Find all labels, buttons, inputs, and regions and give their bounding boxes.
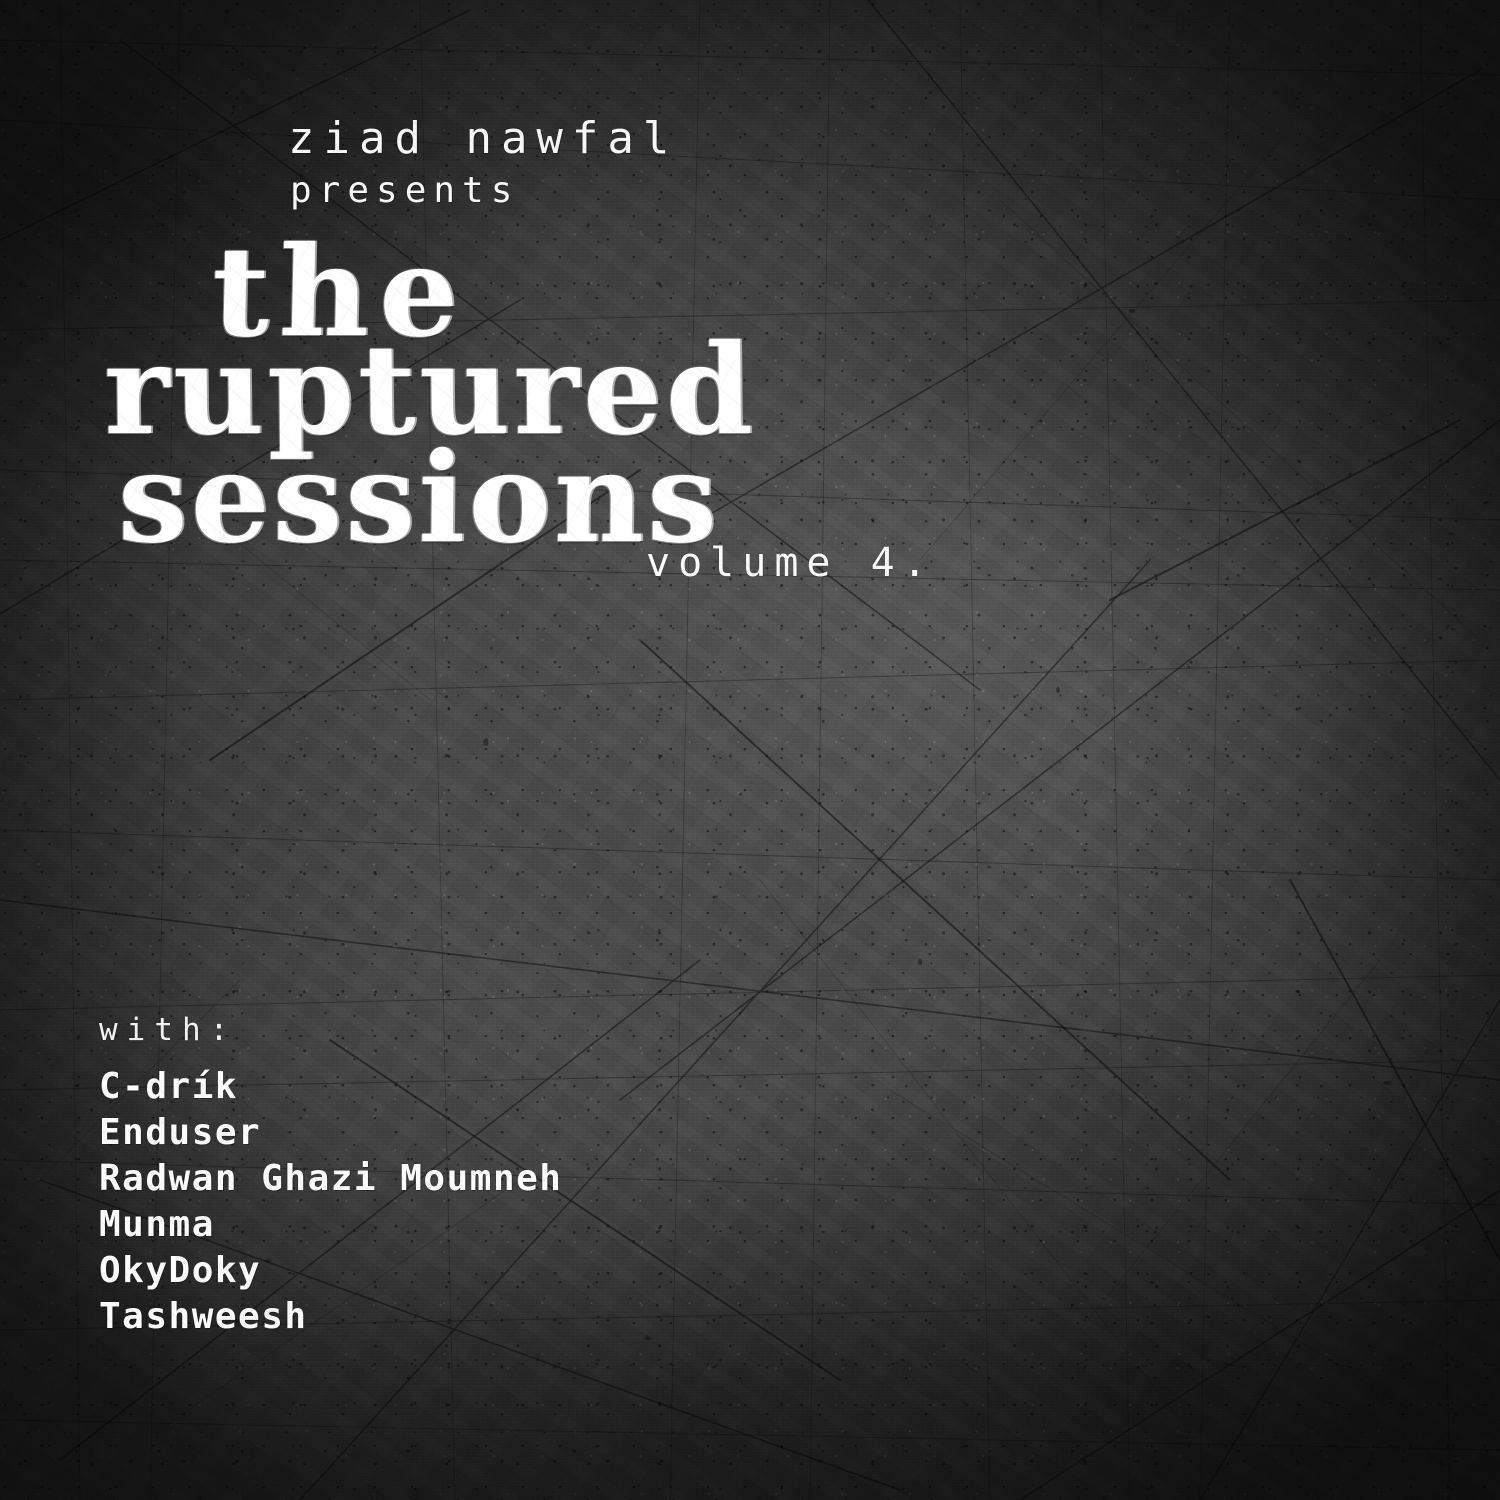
list-item: OkyDoky: [99, 1248, 562, 1294]
cover-text-layer: ziad nawfal presents the ruptured sessio…: [0, 0, 1500, 1500]
album-cover: ziad nawfal presents the ruptured sessio…: [0, 0, 1500, 1500]
artist-list-items: C-drík Enduser Radwan Ghazi Moumneh Munm…: [99, 1064, 562, 1340]
presents-label: presents: [290, 170, 519, 211]
list-item: Tashweesh: [99, 1294, 562, 1340]
list-item: Enduser: [99, 1110, 562, 1156]
album-title-line-3: sessions: [118, 442, 721, 556]
list-item: Radwan Ghazi Moumneh: [99, 1156, 562, 1202]
list-item: C-drík: [99, 1064, 562, 1110]
presenter-name: ziad nawfal: [288, 113, 678, 164]
volume-label: volume 4.: [646, 540, 935, 586]
list-item: Munma: [99, 1202, 562, 1248]
artist-list-label: with:: [99, 1012, 562, 1048]
artist-list: with: C-drík Enduser Radwan Ghazi Moumne…: [99, 1012, 562, 1340]
